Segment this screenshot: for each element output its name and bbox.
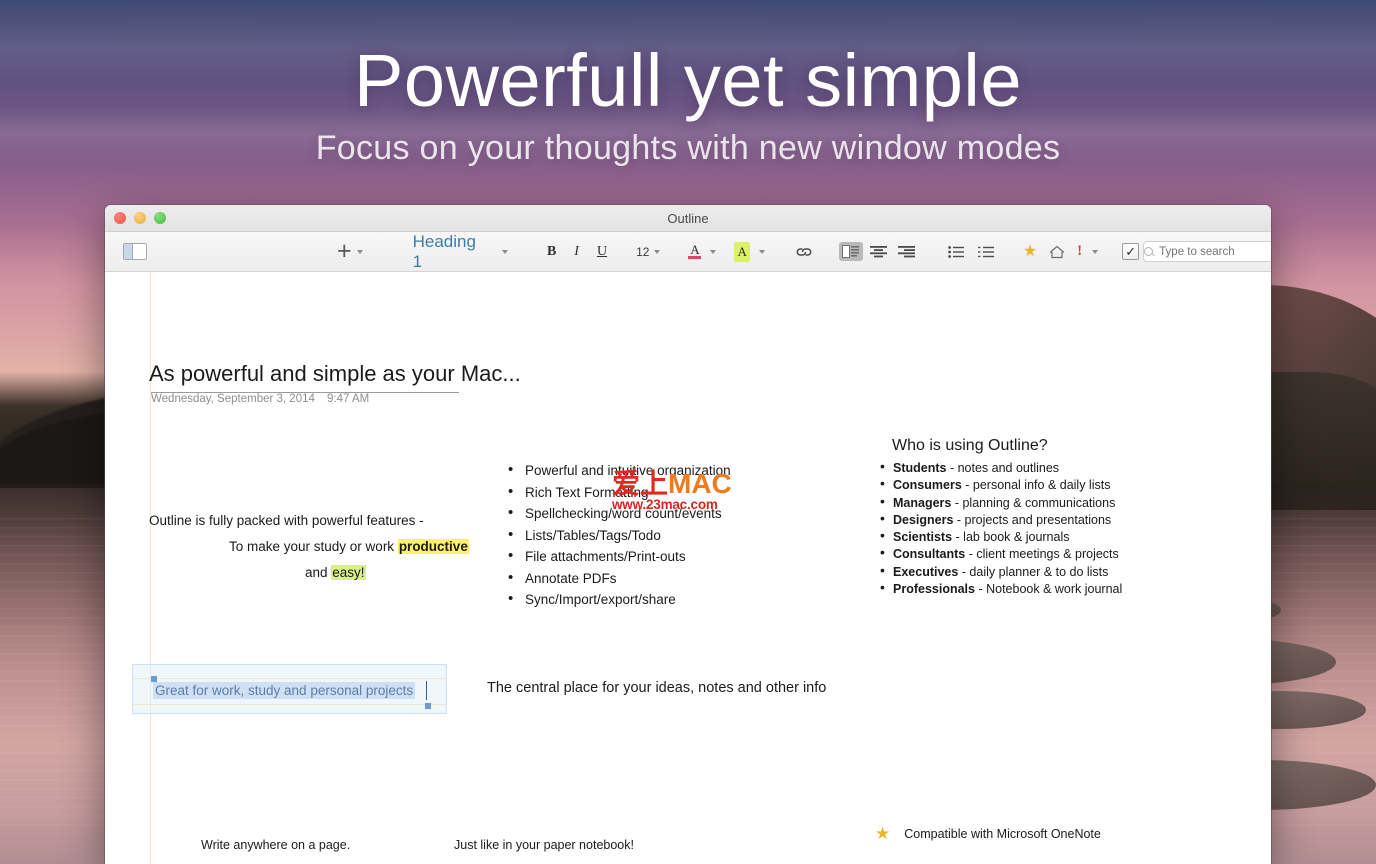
chevron-down-icon[interactable] xyxy=(710,250,716,254)
font-color-button[interactable]: A xyxy=(682,232,722,272)
role-label: Students xyxy=(893,461,946,475)
role-label: Executives xyxy=(893,565,958,579)
list-item: Managers - planning & communications xyxy=(877,495,1122,512)
document-canvas[interactable]: As powerful and simple as your Mac... We… xyxy=(105,272,1271,864)
underline-button[interactable]: U xyxy=(588,232,616,272)
role-label: Scientists xyxy=(893,530,952,544)
desktop-wallpaper: Powerfull yet simple Focus on your thoug… xyxy=(0,0,1376,864)
lead-line-2-text: To make your study or work xyxy=(229,539,398,554)
sidebar-toggle-button[interactable] xyxy=(113,232,153,272)
home-tag-button[interactable] xyxy=(1043,232,1071,272)
list-item: Students - notes and outlines xyxy=(877,460,1122,477)
tag-dropdown[interactable] xyxy=(1088,232,1102,272)
central-place-text[interactable]: The central place for your ideas, notes … xyxy=(487,680,826,696)
star-icon: ★ xyxy=(1023,244,1037,260)
footer-middle-text[interactable]: Just like in your paper notebook! xyxy=(454,838,634,852)
features-list[interactable]: Powerful and intuitive organization Rich… xyxy=(505,460,731,611)
exclamation-icon: ! xyxy=(1077,243,1082,260)
bold-icon: B xyxy=(547,244,556,260)
role-desc: - personal info & daily lists xyxy=(962,478,1111,492)
document-date: Wednesday, September 3, 2014 xyxy=(151,393,315,405)
selected-text[interactable]: Great for work, study and personal proje… xyxy=(153,682,415,699)
hero-headline: Powerfull yet simple xyxy=(0,38,1376,123)
document-time: 9:47 AM xyxy=(327,393,369,405)
font-size-dropdown[interactable]: 12 xyxy=(630,232,666,272)
align-right-icon xyxy=(895,242,919,261)
list-item: Spellchecking/word count/events xyxy=(505,503,731,525)
highlight-productive: productive xyxy=(398,539,469,554)
bold-button[interactable]: B xyxy=(538,232,565,272)
link-icon xyxy=(795,246,813,258)
underline-icon: U xyxy=(597,244,607,260)
highlight-icon: A xyxy=(734,242,749,262)
align-right-button[interactable] xyxy=(893,232,921,272)
font-color-glyph: A xyxy=(690,244,699,255)
chevron-down-icon[interactable] xyxy=(357,250,363,254)
role-label: Managers xyxy=(893,496,951,510)
footer-right-text[interactable]: ★ Compatible with Microsoft OneNote xyxy=(875,824,1101,844)
baseline-guide xyxy=(133,704,446,705)
window-title: Outline xyxy=(667,211,708,226)
plus-icon: + xyxy=(337,239,352,264)
align-image-left-button[interactable] xyxy=(837,232,865,272)
baseline-guide xyxy=(133,678,446,679)
role-desc: - daily planner & to do lists xyxy=(958,565,1108,579)
lead-line-1[interactable]: Outline is fully packed with powerful fe… xyxy=(149,513,424,528)
chevron-down-icon[interactable] xyxy=(654,250,660,254)
hero-subhead: Focus on your thoughts with new window m… xyxy=(0,129,1376,168)
chevron-down-icon[interactable] xyxy=(759,250,765,254)
star-icon: ★ xyxy=(875,824,890,844)
role-desc: - Notebook & work journal xyxy=(975,582,1122,596)
onenote-compat-label: Compatible with Microsoft OneNote xyxy=(904,827,1101,841)
list-item: Rich Text Formatting xyxy=(505,482,731,504)
role-label: Consumers xyxy=(893,478,962,492)
list-item: File attachments/Print-outs xyxy=(505,546,731,568)
lead-line-3-text: and xyxy=(305,565,331,580)
highlight-color-button[interactable]: A xyxy=(728,232,770,272)
bulleted-list-button[interactable] xyxy=(941,232,971,272)
window-titlebar[interactable]: Outline xyxy=(105,205,1271,232)
list-item: Annotate PDFs xyxy=(505,568,731,590)
numbered-list-button[interactable] xyxy=(971,232,1001,272)
role-desc: - client meetings & projects xyxy=(965,547,1119,561)
add-note-button[interactable]: + xyxy=(331,232,369,272)
highlight-easy: easy! xyxy=(331,565,365,580)
search-field[interactable] xyxy=(1143,241,1271,262)
insert-link-button[interactable] xyxy=(787,232,821,272)
list-item: Sync/Import/export/share xyxy=(505,589,731,611)
italic-button[interactable]: I xyxy=(565,232,588,272)
close-button[interactable] xyxy=(114,212,126,224)
search-input[interactable] xyxy=(1159,246,1271,258)
lead-line-3[interactable]: and easy! xyxy=(305,565,366,580)
font-color-icon: A xyxy=(688,244,701,259)
outline-app-window: Outline + Heading 1 B I xyxy=(105,205,1271,864)
who-is-using-heading: Who is using Outline? xyxy=(892,437,1048,455)
role-desc: - notes and outlines xyxy=(946,461,1059,475)
font-color-swatch xyxy=(688,256,701,259)
role-desc: - lab book & journals xyxy=(952,530,1069,544)
lead-line-2[interactable]: To make your study or work productive xyxy=(229,539,469,554)
role-desc: - projects and presentations xyxy=(953,513,1111,527)
search-icon xyxy=(1144,247,1153,256)
paragraph-style-dropdown[interactable]: Heading 1 xyxy=(403,232,514,272)
italic-icon: I xyxy=(574,244,579,260)
numbered-list-icon xyxy=(978,246,994,258)
list-item: Lists/Tables/Tags/Todo xyxy=(505,525,731,547)
role-label: Consultants xyxy=(893,547,965,561)
checkbox-icon: ✓ xyxy=(1122,243,1139,260)
highlight-glyph: A xyxy=(737,244,746,259)
traffic-lights xyxy=(114,212,166,224)
star-tag-button[interactable]: ★ xyxy=(1017,232,1043,272)
zoom-button[interactable] xyxy=(154,212,166,224)
selected-text-box[interactable]: Great for work, study and personal proje… xyxy=(132,664,447,714)
who-is-using-list[interactable]: Students - notes and outlines Consumers … xyxy=(877,460,1122,598)
document-title[interactable]: As powerful and simple as your Mac... xyxy=(149,361,521,390)
list-item: Executives - daily planner & to do lists xyxy=(877,564,1122,581)
list-item: Consultants - client meetings & projects xyxy=(877,546,1122,563)
chevron-down-icon[interactable] xyxy=(502,250,508,254)
minimize-button[interactable] xyxy=(134,212,146,224)
list-item: Powerful and intuitive organization xyxy=(505,460,731,482)
list-item: Consumers - personal info & daily lists xyxy=(877,477,1122,494)
font-size-label: 12 xyxy=(636,245,649,259)
align-image-left-icon xyxy=(839,242,863,261)
role-label: Designers xyxy=(893,513,953,527)
list-item: Scientists - lab book & journals xyxy=(877,529,1122,546)
hero-text: Powerfull yet simple Focus on your thoug… xyxy=(0,0,1376,168)
role-label: Professionals xyxy=(893,582,975,596)
resize-handle-bottom-right[interactable] xyxy=(425,703,431,709)
important-tag-button[interactable]: ! xyxy=(1071,232,1088,272)
footer-left-text[interactable]: Write anywhere on a page. xyxy=(201,838,350,852)
chevron-down-icon[interactable] xyxy=(1092,250,1098,254)
bulleted-list-icon xyxy=(948,246,964,258)
list-item: Professionals - Notebook & work journal xyxy=(877,581,1122,598)
todo-checkbox-button[interactable]: ✓ xyxy=(1118,232,1143,272)
resize-handle-top-left[interactable] xyxy=(151,676,157,682)
list-item: Designers - projects and presentations xyxy=(877,512,1122,529)
toolbar: + Heading 1 B I U 12 xyxy=(105,232,1271,272)
text-caret xyxy=(426,681,427,700)
paragraph-style-label: Heading 1 xyxy=(409,232,480,272)
align-center-icon xyxy=(867,242,891,261)
role-desc: - planning & communications xyxy=(951,496,1115,510)
home-icon xyxy=(1049,245,1065,259)
align-center-button[interactable] xyxy=(865,232,893,272)
sidebar-icon xyxy=(123,243,147,260)
